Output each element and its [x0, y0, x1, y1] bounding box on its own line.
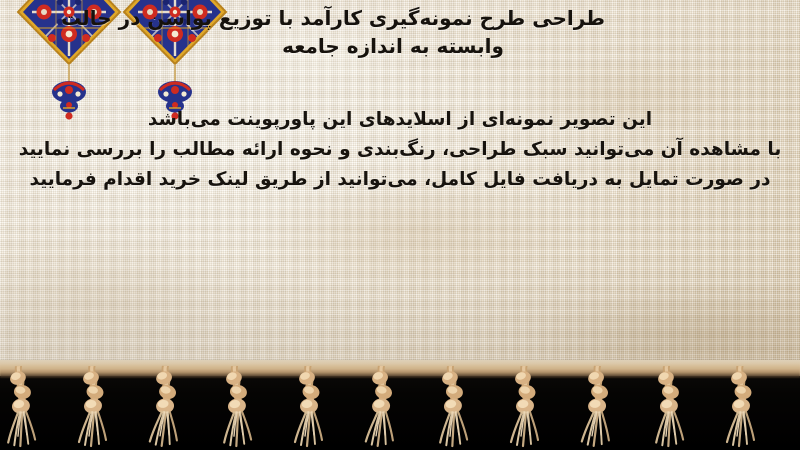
fringe-tassel	[569, 365, 628, 450]
slide-text-layer: طراحی طرح نمونه‌گیری کارآمد با توزیع پوا…	[0, 0, 800, 375]
fringe-tassel	[714, 366, 770, 450]
slide-title-line-1: طراحی طرح نمونه‌گیری کارآمد با توزیع پوا…	[0, 4, 786, 32]
fringe-tassel	[66, 366, 122, 450]
slide-title: طراحی طرح نمونه‌گیری کارآمد با توزیع پوا…	[0, 4, 800, 61]
carpet-knotted-fringe	[0, 366, 800, 450]
slide-body: این تصویر نمونه‌ای از اسلایدهای این پاور…	[0, 105, 800, 195]
fringe-tassel	[137, 365, 196, 450]
fringe-tassel	[282, 366, 338, 450]
fringe-tassel	[498, 366, 554, 450]
slide-body-line-3: در صورت تمایل به دریافت فایل کامل، می‌تو…	[0, 165, 800, 195]
fringe-tassel	[353, 365, 412, 450]
fringe-tassel	[0, 365, 51, 450]
fringe-tassel	[425, 365, 484, 450]
fringe-tassel	[641, 365, 700, 450]
slide-body-line-2: با مشاهده آن می‌توانید سبک طراحی، رنگ‌بن…	[0, 135, 800, 165]
slide-title-line-2: وابسته به اندازه جامعه	[0, 32, 786, 60]
slide-body-line-1: این تصویر نمونه‌ای از اسلایدهای این پاور…	[0, 105, 800, 135]
slide-canvas: طراحی طرح نمونه‌گیری کارآمد با توزیع پوا…	[0, 0, 800, 450]
fringe-tassel	[209, 365, 268, 450]
